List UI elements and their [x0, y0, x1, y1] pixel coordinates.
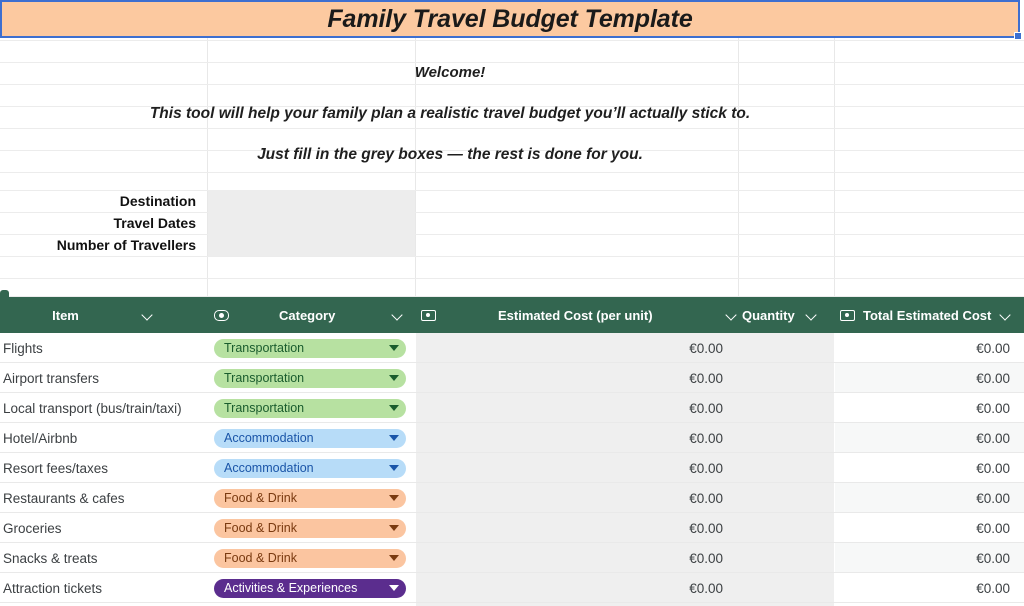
- table-row: GroceriesFood & Drink€0.00€0.00: [0, 513, 1024, 543]
- category-dropdown-pill[interactable]: Transportation: [214, 399, 406, 418]
- cell-quantity[interactable]: [739, 483, 834, 513]
- column-header-item-label: Item: [52, 308, 79, 323]
- table-row: Snacks & treatsFood & Drink€0.00€0.00: [0, 543, 1024, 573]
- cell-quantity[interactable]: [739, 393, 834, 423]
- column-header-quantity-label: Quantity: [742, 308, 795, 323]
- destination-label: Destination: [0, 190, 196, 212]
- category-dropdown-pill[interactable]: Food & Drink: [214, 519, 406, 538]
- table-row: FlightsTransportation€0.00€0.00: [0, 333, 1024, 363]
- cell-item-name[interactable]: Attraction tickets: [0, 573, 207, 603]
- cell-category[interactable]: Food & Drink: [208, 513, 415, 543]
- caret-down-icon[interactable]: [389, 405, 399, 411]
- column-header-quantity[interactable]: Quantity: [742, 297, 832, 333]
- table-row: Attraction ticketsActivities & Experienc…: [0, 573, 1024, 603]
- cell-estimated-cost[interactable]: €0.00: [416, 333, 738, 363]
- category-label: Food & Drink: [224, 551, 297, 565]
- cell-quantity[interactable]: [739, 513, 834, 543]
- cell-quantity[interactable]: [739, 333, 834, 363]
- table-row: Resort fees/taxesAccommodation€0.00€0.00: [0, 453, 1024, 483]
- cell-quantity[interactable]: [739, 543, 834, 573]
- column-header-category[interactable]: Category: [214, 297, 415, 333]
- category-label: Transportation: [224, 401, 304, 415]
- column-header-estimated-cost-label: Estimated Cost (per unit): [498, 308, 653, 323]
- chevron-down-icon[interactable]: [725, 308, 739, 322]
- category-label: Transportation: [224, 371, 304, 385]
- money-icon: [421, 310, 436, 321]
- column-header-item[interactable]: Item: [0, 297, 207, 333]
- category-dropdown-pill[interactable]: Activities & Experiences: [214, 579, 406, 598]
- caret-down-icon[interactable]: [389, 495, 399, 501]
- cell-category[interactable]: Activities & Experiences: [208, 573, 415, 603]
- cell-total-estimated-cost: €0.00: [835, 573, 1024, 603]
- table-row: Hotel/AirbnbAccommodation€0.00€0.00: [0, 423, 1024, 453]
- category-label: Accommodation: [224, 431, 314, 445]
- cell-estimated-cost[interactable]: €0.00: [416, 393, 738, 423]
- caret-down-icon[interactable]: [389, 465, 399, 471]
- welcome-block: Welcome! This tool will help your family…: [0, 40, 1024, 180]
- spreadsheet-canvas: Family Travel Budget Template Welcome! T…: [0, 0, 1024, 606]
- travel-dates-input[interactable]: [208, 212, 415, 234]
- cell-item-name[interactable]: Groceries: [0, 513, 207, 543]
- caret-down-icon[interactable]: [389, 375, 399, 381]
- row-separator: [0, 602, 1024, 603]
- chevron-down-icon[interactable]: [999, 308, 1013, 322]
- cell-estimated-cost[interactable]: €0.00: [416, 543, 738, 573]
- category-label: Activities & Experiences: [224, 581, 357, 595]
- cell-total-estimated-cost: €0.00: [835, 453, 1024, 483]
- travel-dates-label: Travel Dates: [0, 212, 196, 234]
- cell-total-estimated-cost: €0.00: [835, 333, 1024, 363]
- category-label: Food & Drink: [224, 491, 297, 505]
- cell-category[interactable]: Transportation: [208, 333, 415, 363]
- column-header-category-label: Category: [279, 308, 335, 323]
- welcome-description: This tool will help your family plan a r…: [0, 105, 900, 123]
- table-row: Airport transfersTransportation€0.00€0.0…: [0, 363, 1024, 393]
- cell-estimated-cost[interactable]: €0.00: [416, 483, 738, 513]
- chevron-down-icon[interactable]: [805, 308, 819, 322]
- cell-item-name[interactable]: Flights: [0, 333, 207, 363]
- cell-estimated-cost[interactable]: €0.00: [416, 423, 738, 453]
- cell-total-estimated-cost: €0.00: [835, 513, 1024, 543]
- title-banner-cell[interactable]: Family Travel Budget Template: [0, 0, 1020, 38]
- caret-down-icon[interactable]: [389, 345, 399, 351]
- caret-down-icon[interactable]: [389, 525, 399, 531]
- category-dropdown-pill[interactable]: Food & Drink: [214, 489, 406, 508]
- table-header-row: Item Category Estimated Cost (per unit) …: [0, 297, 1024, 333]
- number-of-travellers-label: Number of Travellers: [0, 234, 196, 256]
- caret-down-icon[interactable]: [389, 435, 399, 441]
- cell-item-name[interactable]: Resort fees/taxes: [0, 453, 207, 483]
- cell-total-estimated-cost: €0.00: [835, 543, 1024, 573]
- caret-down-icon[interactable]: [389, 555, 399, 561]
- column-header-total-estimated-cost-label: Total Estimated Cost: [863, 308, 991, 323]
- chevron-down-icon[interactable]: [141, 308, 155, 322]
- cell-total-estimated-cost: €0.00: [835, 483, 1024, 513]
- chevron-down-icon[interactable]: [391, 308, 405, 322]
- destination-input[interactable]: [208, 190, 415, 212]
- money-icon: [840, 310, 855, 321]
- selection-fill-handle[interactable]: [1014, 32, 1022, 40]
- cell-estimated-cost[interactable]: €0.00: [416, 573, 738, 603]
- cell-quantity[interactable]: [739, 453, 834, 483]
- cell-total-estimated-cost: €0.00: [835, 363, 1024, 393]
- cell-item-name[interactable]: Hotel/Airbnb: [0, 423, 207, 453]
- cell-quantity[interactable]: [739, 363, 834, 393]
- cell-item-name[interactable]: Local transport (bus/train/taxi): [0, 393, 207, 423]
- category-dropdown-pill[interactable]: Accommodation: [214, 459, 406, 478]
- cell-item-name[interactable]: Snacks & treats: [0, 543, 207, 573]
- cell-estimated-cost[interactable]: €0.00: [416, 513, 738, 543]
- cell-category[interactable]: Accommodation: [208, 453, 415, 483]
- budget-table-body: FlightsTransportation€0.00€0.00Airport t…: [0, 333, 1024, 603]
- table-row: Restaurants & cafesFood & Drink€0.00€0.0…: [0, 483, 1024, 513]
- cell-category[interactable]: Transportation: [208, 363, 415, 393]
- cell-estimated-cost[interactable]: €0.00: [416, 453, 738, 483]
- cell-category[interactable]: Transportation: [208, 393, 415, 423]
- category-dropdown-pill[interactable]: Transportation: [214, 339, 406, 358]
- cell-item-name[interactable]: Airport transfers: [0, 363, 207, 393]
- cell-category[interactable]: Food & Drink: [208, 543, 415, 573]
- welcome-instruction: Just fill in the grey boxes — the rest i…: [0, 146, 900, 164]
- category-dropdown-pill[interactable]: Food & Drink: [214, 549, 406, 568]
- cell-category[interactable]: Food & Drink: [208, 483, 415, 513]
- welcome-heading: Welcome!: [0, 64, 900, 81]
- cell-total-estimated-cost: €0.00: [835, 393, 1024, 423]
- cell-quantity[interactable]: [739, 423, 834, 453]
- cell-total-estimated-cost: €0.00: [835, 423, 1024, 453]
- column-header-estimated-cost[interactable]: Estimated Cost (per unit): [421, 297, 736, 333]
- category-label: Transportation: [224, 341, 304, 355]
- cell-estimated-cost[interactable]: €0.00: [416, 363, 738, 393]
- chip-icon: [214, 310, 229, 321]
- category-dropdown-pill[interactable]: Transportation: [214, 369, 406, 388]
- cell-category[interactable]: Accommodation: [208, 423, 415, 453]
- page-title: Family Travel Budget Template: [327, 5, 692, 34]
- category-dropdown-pill[interactable]: Accommodation: [214, 429, 406, 448]
- number-of-travellers-input[interactable]: [208, 234, 415, 256]
- cell-quantity[interactable]: [739, 573, 834, 603]
- caret-down-icon[interactable]: [389, 585, 399, 591]
- category-label: Accommodation: [224, 461, 314, 475]
- category-label: Food & Drink: [224, 521, 297, 535]
- table-row: Local transport (bus/train/taxi)Transpor…: [0, 393, 1024, 423]
- cell-item-name[interactable]: Restaurants & cafes: [0, 483, 207, 513]
- column-header-total-estimated-cost[interactable]: Total Estimated Cost: [840, 297, 1024, 333]
